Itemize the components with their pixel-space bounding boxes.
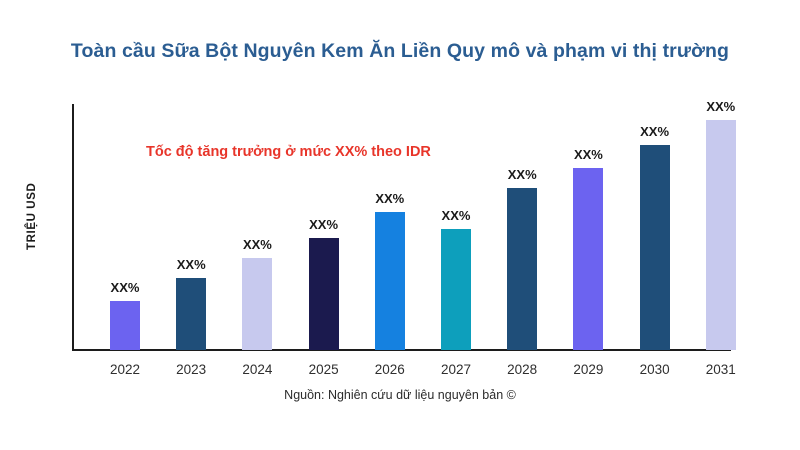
bar-2028[interactable] — [507, 188, 537, 350]
bar-2022[interactable] — [110, 301, 140, 350]
x-axis-tick-2024: 2024 — [225, 362, 289, 377]
x-axis-tick-2025: 2025 — [292, 362, 356, 377]
bar-value-label-2027: XX% — [424, 208, 488, 223]
bar-value-label-2024: XX% — [225, 237, 289, 252]
y-axis-line — [72, 104, 74, 351]
growth-rate-annotation: Tốc độ tăng trưởng ở mức XX% theo IDR — [146, 144, 431, 160]
x-axis-tick-2030: 2030 — [623, 362, 687, 377]
bar-2025[interactable] — [309, 238, 339, 350]
bar-2029[interactable] — [573, 168, 603, 350]
bar-value-label-2022: XX% — [93, 280, 157, 295]
bar-value-label-2026: XX% — [358, 191, 422, 206]
x-axis-tick-2027: 2027 — [424, 362, 488, 377]
bar-2030[interactable] — [640, 145, 670, 350]
bar-value-label-2029: XX% — [556, 147, 620, 162]
x-axis-tick-2031: 2031 — [689, 362, 753, 377]
x-axis-tick-2022: 2022 — [93, 362, 157, 377]
x-axis-tick-2029: 2029 — [556, 362, 620, 377]
bar-2026[interactable] — [375, 212, 405, 350]
bar-2031[interactable] — [706, 120, 736, 350]
chart-container: Toàn cầu Sữa Bột Nguyên Kem Ăn Liền Quy … — [0, 0, 800, 450]
plot-area: XX%2022XX%2023XX%2024XX%2025XX%2026XX%20… — [0, 0, 800, 450]
bar-2023[interactable] — [176, 278, 206, 350]
bar-value-label-2028: XX% — [490, 167, 554, 182]
bar-value-label-2025: XX% — [292, 217, 356, 232]
x-axis-tick-2023: 2023 — [159, 362, 223, 377]
bar-value-label-2023: XX% — [159, 257, 223, 272]
source-note: Nguồn: Nghiên cứu dữ liệu nguyên bản © — [0, 388, 800, 402]
bar-value-label-2031: XX% — [689, 99, 753, 114]
x-axis-tick-2026: 2026 — [358, 362, 422, 377]
bar-2024[interactable] — [242, 258, 272, 350]
x-axis-tick-2028: 2028 — [490, 362, 554, 377]
bar-value-label-2030: XX% — [623, 124, 687, 139]
bar-2027[interactable] — [441, 229, 471, 350]
chart-title: Toàn cầu Sữa Bột Nguyên Kem Ăn Liền Quy … — [0, 40, 800, 63]
y-axis-label: TRIỆU USD — [26, 120, 38, 250]
